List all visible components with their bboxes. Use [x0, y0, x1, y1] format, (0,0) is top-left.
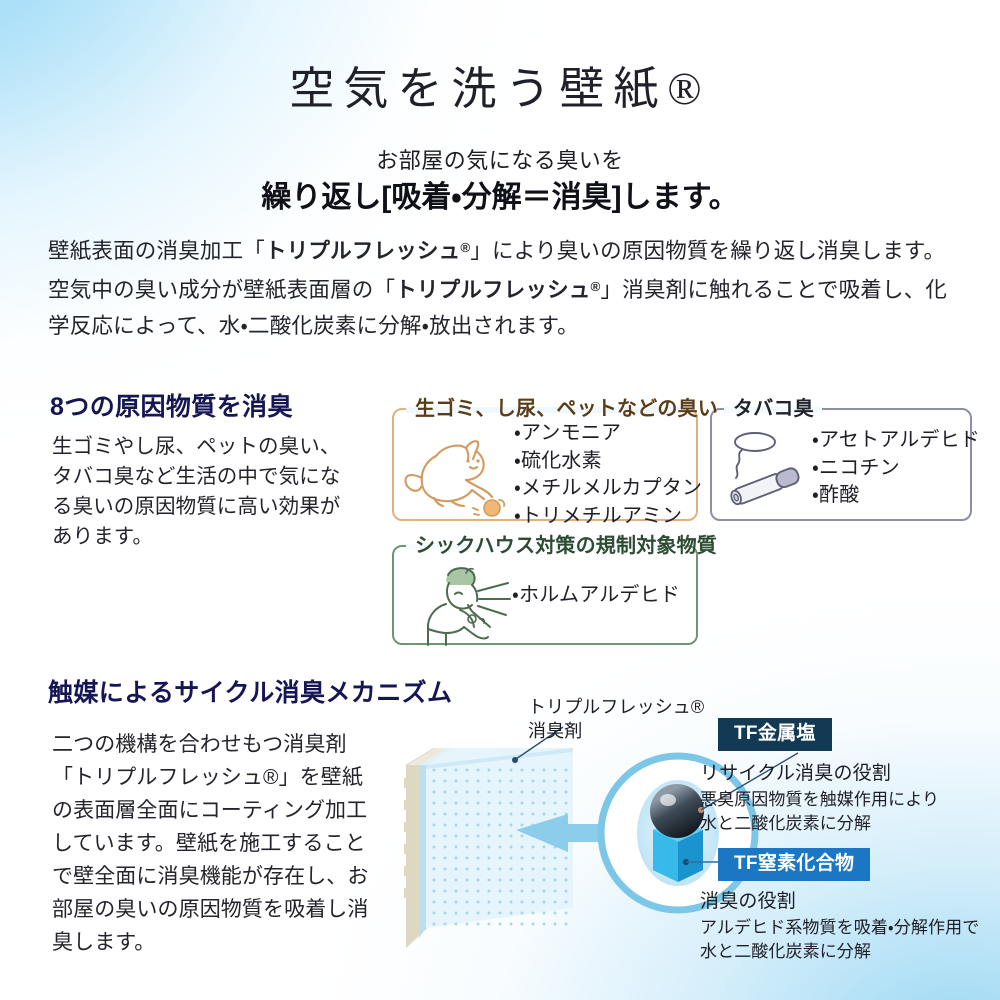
badge-tf-metal-salt: TF金属塩 — [718, 718, 832, 751]
panel-tobacco-odor: タバコ臭 ・アセトアルデヒド ・ニコチン ・酢酸 — [710, 408, 972, 521]
panel-sickhouse-odor: シックハウス対策の規制対象物質 — [392, 545, 698, 645]
list-item: ・メチルメルカプタン — [514, 475, 702, 503]
panel-waste-title: 生ゴミ、し尿、ペットなどの臭い — [408, 396, 725, 422]
subtitle-line-1: お部屋の気になる臭いを — [0, 143, 1000, 175]
agent-label: トリプルフレッシュ® 消臭剤 — [528, 695, 704, 743]
page-title: 空気を洗う壁紙® — [0, 52, 1000, 117]
subtitle-line-2: 繰り返し[吸着・分解＝消臭]します。 — [0, 172, 1000, 216]
callout-tf-metal-salt: リサイクル消臭の役割 悪臭原因物質を触媒作用により 水と二酸化炭素に分解 — [700, 760, 939, 836]
callout-tf-nitrogen-compound: 消臭の役割 アルデヒド系物質を吸着・分解作用で 水と二酸化炭素に分解 — [700, 888, 979, 964]
registered-mark-2: ® — [591, 279, 601, 294]
callout-sub-line-2: 水と二酸化炭素に分解 — [700, 812, 939, 836]
list-item: ・ニコチン — [812, 455, 980, 483]
callout-sub-line-1: アルデヒド系物質を吸着・分解作用で — [700, 916, 979, 940]
panel-sickhouse-title: シックハウス対策の規制対象物質 — [408, 533, 724, 559]
registered-mark-1: ® — [460, 240, 470, 255]
callout-sub-line-1: 悪臭原因物質を触媒作用により — [700, 788, 939, 812]
mechanism-diagram: トリプルフレッシュ® 消臭剤 TF金属塩 リサイクル消臭の役割 悪臭原因物質を触… — [398, 690, 1000, 980]
list-item: ・ホルムアルデヒド — [512, 582, 680, 610]
brand-name-2: トリプルフレッシュ — [395, 278, 590, 302]
callout-sub-line-2: 水と二酸化炭素に分解 — [700, 940, 979, 964]
panel-sickhouse-items: ・ホルムアルデヒド — [512, 582, 680, 610]
section-heading-mechanism: 触媒によるサイクル消臭メカニズム — [48, 673, 452, 709]
coughing-person-illustration — [416, 561, 512, 647]
list-item: ・アセトアルデヒド — [812, 427, 980, 455]
list-item: ・酢酸 — [812, 482, 980, 510]
badge-tf-nitrogen-compound: TF窒素化合物 — [718, 848, 870, 881]
panel-waste-items: ・アンモニア ・硫化水素 ・メチルメルカプタン ・トリメチルアミン — [514, 420, 702, 530]
panel-tobacco-items: ・アセトアルデヒド ・ニコチン ・酢酸 — [812, 427, 980, 510]
panel-tobacco-title: タバコ臭 — [726, 396, 821, 422]
list-item: ・硫化水素 — [514, 448, 702, 476]
agent-label-line-1: トリプルフレッシュ® — [528, 695, 704, 719]
callout-title: リサイクル消臭の役割 — [700, 760, 939, 788]
poster-root: 空気を洗う壁紙® お部屋の気になる臭いを 繰り返し[吸着・分解＝消臭]します。 … — [0, 0, 1000, 1000]
section-body-odor: 生ゴミやし尿、ペットの臭い、タバコ臭など生活の中で気になる臭いの原因物質に高い効… — [52, 432, 352, 552]
panel-waste-odor: 生ゴミ、し尿、ペットなどの臭い — [392, 408, 698, 521]
agent-label-line-2: 消臭剤 — [528, 719, 704, 743]
lead-text-a: 壁紙表面の消臭加工「 — [48, 239, 265, 263]
list-item: ・トリメチルアミン — [514, 503, 702, 531]
cat-illustration — [400, 428, 512, 520]
lead-paragraph: 壁紙表面の消臭加工「トリプルフレッシュ®」により臭いの原因物質を繰り返し消臭しま… — [48, 230, 954, 344]
callout-title: 消臭の役割 — [700, 888, 979, 916]
cigarette-illustration — [718, 426, 814, 510]
section-body-mechanism: 二つの機構を合わせもつ消臭剤「トリプルフレッシュ®」を壁紙の表面層全面にコーティ… — [52, 728, 382, 959]
section-heading-odor: 8つの原因物質を消臭 — [50, 387, 293, 423]
brand-name-1: トリプルフレッシュ — [265, 239, 460, 263]
